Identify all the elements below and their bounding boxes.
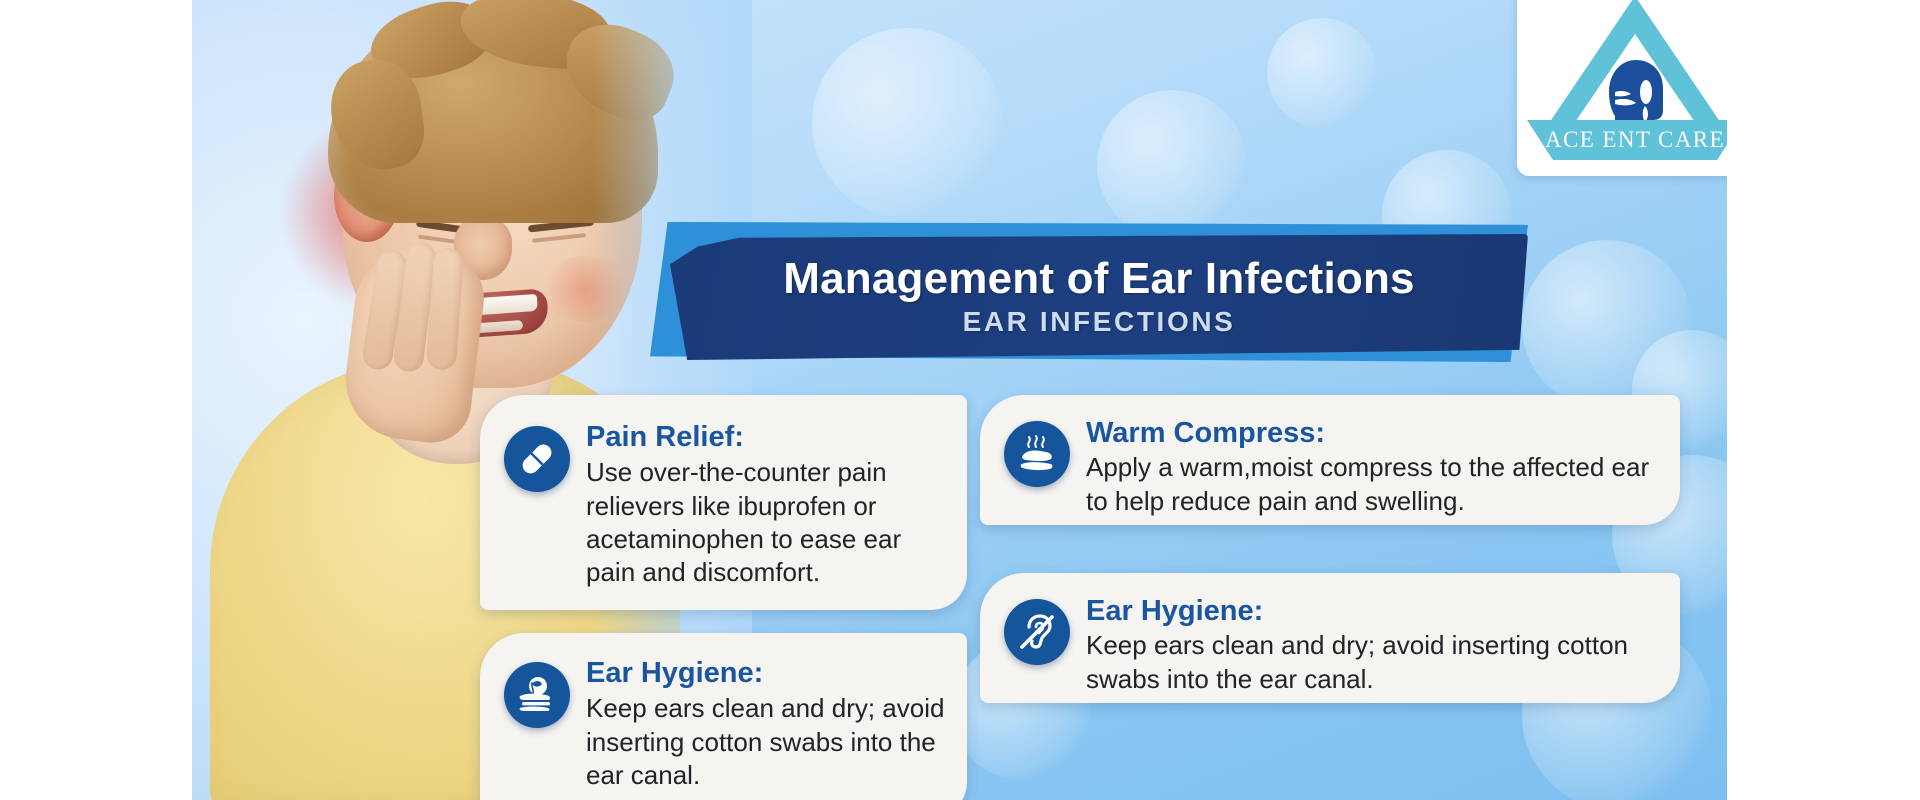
card-body: Keep ears clean and dry; avoid inserting… [1086, 629, 1658, 696]
pill-capsule-icon [516, 438, 558, 480]
card-pain-relief[interactable]: Pain Relief: Use over-the-counter pain r… [480, 395, 967, 610]
bokeh-circle [1267, 18, 1377, 128]
card-title: Ear Hygiene: [586, 657, 945, 689]
icon-circle [1004, 599, 1070, 665]
icon-wrap [1004, 599, 1070, 665]
text-wrap: Ear Hygiene: Keep ears clean and dry; av… [1086, 595, 1658, 696]
banner-text-group: Management of Ear Infections EAR INFECTI… [670, 234, 1528, 360]
page-title: Management of Ear Infections [783, 256, 1414, 302]
text-wrap: Pain Relief: Use over-the-counter pain r… [586, 421, 945, 590]
card-title: Warm Compress: [1086, 417, 1658, 449]
steaming-compress-towel-icon [1016, 433, 1058, 475]
content-band: Management of Ear Infections EAR INFECTI… [192, 0, 1727, 800]
card-title: Pain Relief: [586, 421, 945, 453]
text-wrap: Ear Hygiene: Keep ears clean and dry; av… [586, 657, 945, 792]
bokeh-circle [1097, 90, 1247, 240]
logo-inner: ACE ENT CARE [1517, 0, 1727, 176]
card-body: Apply a warm,moist compress to the affec… [1086, 451, 1658, 518]
icon-circle [1004, 421, 1070, 487]
brand-logo-card[interactable]: ACE ENT CARE [1517, 0, 1727, 176]
logo-text: ACE ENT CARE [1545, 127, 1725, 153]
icon-circle [504, 662, 570, 728]
icon-wrap [1004, 421, 1070, 487]
card-ear-hygiene-left[interactable]: Ear Hygiene: Keep ears clean and dry; av… [480, 633, 967, 800]
infographic-canvas: Management of Ear Infections EAR INFECTI… [0, 0, 1920, 800]
hand-washing-icon [516, 674, 558, 716]
logo-wordmark-banner: ACE ENT CARE [1527, 120, 1727, 160]
card-body: Keep ears clean and dry; avoid inserting… [586, 692, 945, 792]
icon-circle [504, 426, 570, 492]
page-subtitle: EAR INFECTIONS [963, 306, 1236, 338]
text-wrap: Warm Compress: Apply a warm,moist compre… [1086, 417, 1658, 518]
card-title: Ear Hygiene: [1086, 595, 1658, 627]
title-banner: Management of Ear Infections EAR INFECTI… [650, 222, 1528, 362]
bokeh-circle [1522, 240, 1692, 410]
card-ear-hygiene-right[interactable]: Ear Hygiene: Keep ears clean and dry; av… [980, 573, 1680, 703]
card-body: Use over-the-counter pain relievers like… [586, 456, 945, 589]
crossed-out-ear-icon [1016, 611, 1058, 653]
bokeh-circle [812, 28, 1002, 218]
icon-wrap [504, 662, 570, 728]
icon-wrap [504, 426, 570, 492]
card-warm-compress[interactable]: Warm Compress: Apply a warm,moist compre… [980, 395, 1680, 525]
